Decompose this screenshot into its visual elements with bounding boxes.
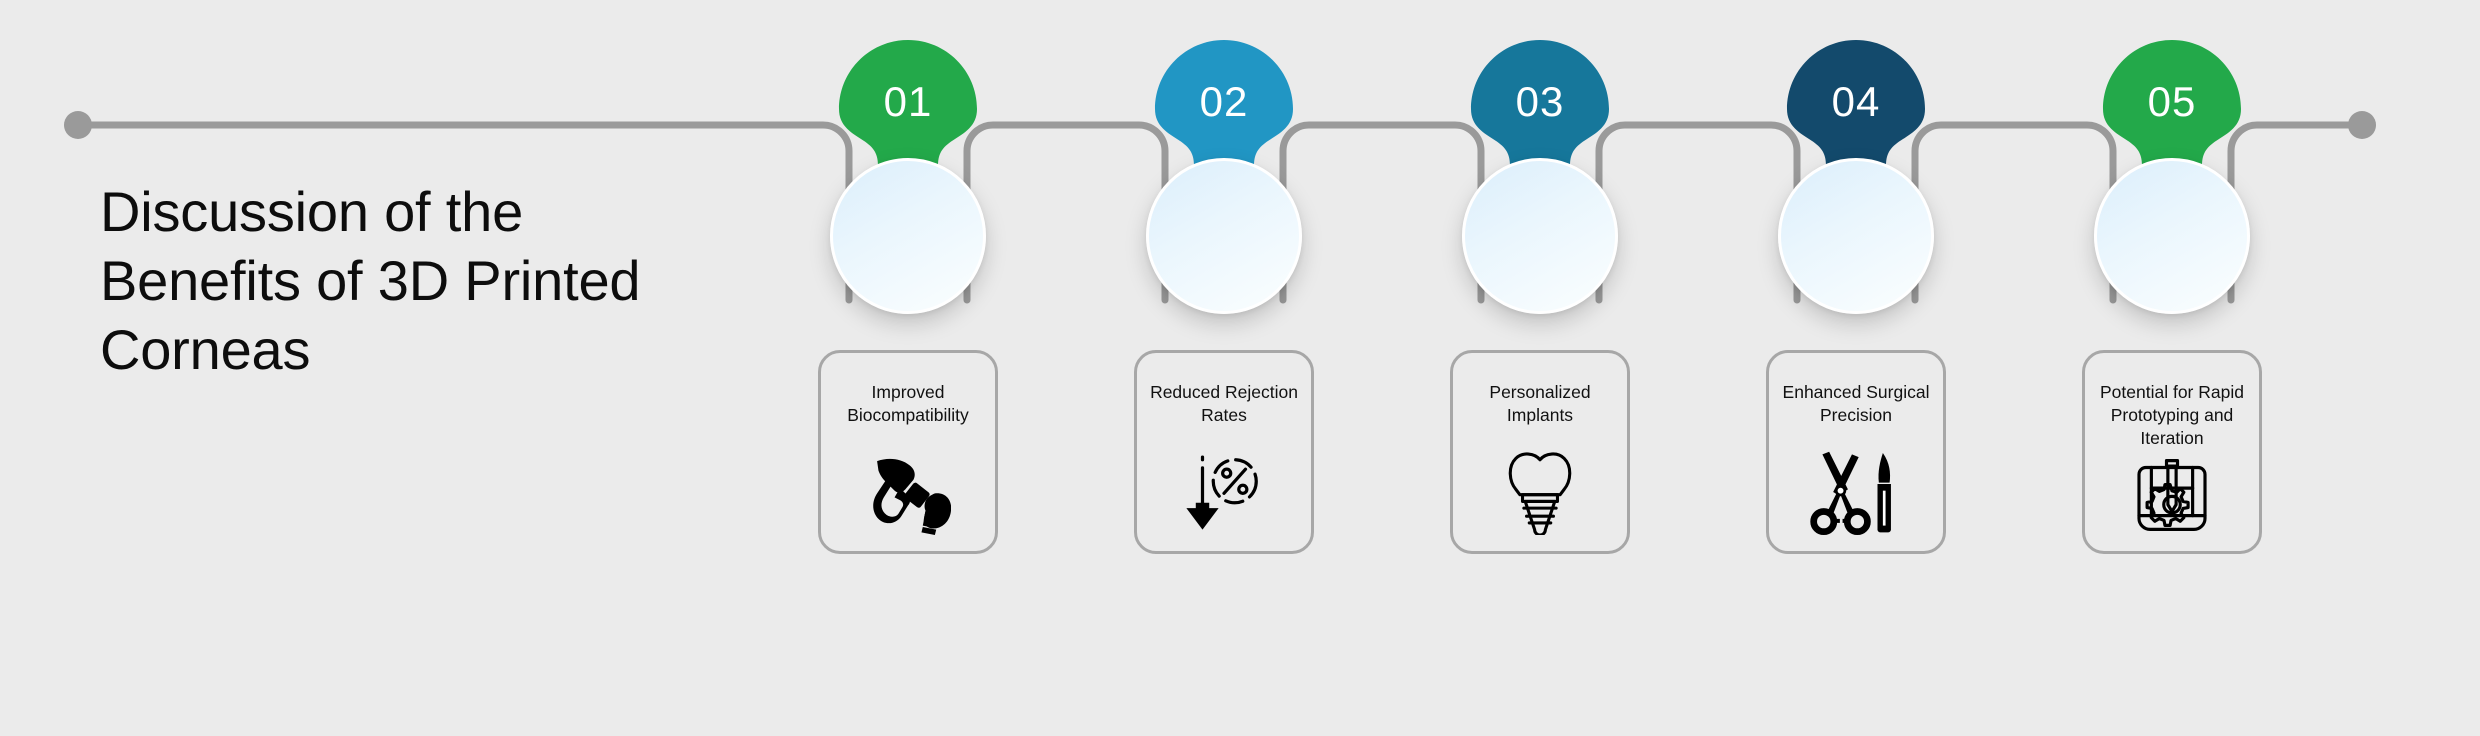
timeline-end-dot bbox=[2348, 111, 2376, 139]
step-2-title: Reduced Rejection Rates bbox=[1140, 381, 1308, 427]
step-3[interactable]: 03 Personalized Implants bbox=[1382, 0, 1698, 736]
3d-printer-gear-icon bbox=[2128, 455, 2216, 535]
infographic-canvas: Discussion of the Benefits of 3D Printed… bbox=[0, 0, 2480, 736]
step-3-title: Personalized Implants bbox=[1456, 381, 1624, 427]
step-3-card[interactable]: Personalized Implants bbox=[1450, 350, 1630, 554]
dental-implant-icon bbox=[1500, 449, 1580, 535]
timeline-start-dot bbox=[64, 111, 92, 139]
step-1-title: Improved Biocompatibility bbox=[824, 381, 992, 427]
step-1-number: 01 bbox=[839, 78, 977, 126]
step-2-number: 02 bbox=[1155, 78, 1293, 126]
step-2-bubble bbox=[1146, 158, 1302, 314]
step-1[interactable]: 01 Improved Biocompatibility bbox=[750, 0, 1066, 736]
step-5-number: 05 bbox=[2103, 78, 2241, 126]
percent-down-arrow-icon bbox=[1181, 449, 1267, 535]
step-1-bubble bbox=[830, 158, 986, 314]
step-4-number: 04 bbox=[1787, 78, 1925, 126]
step-2[interactable]: 02 Reduced Rejection Rates bbox=[1066, 0, 1382, 736]
hip-implant-icon bbox=[865, 449, 951, 535]
step-2-card[interactable]: Reduced Rejection Rates bbox=[1134, 350, 1314, 554]
step-5-card[interactable]: Potential for Rapid Prototyping and Iter… bbox=[2082, 350, 2262, 554]
step-4-card[interactable]: Enhanced Surgical Precision bbox=[1766, 350, 1946, 554]
scissors-scalpel-icon bbox=[1808, 449, 1904, 535]
step-3-bubble bbox=[1462, 158, 1618, 314]
step-5-bubble bbox=[2094, 158, 2250, 314]
step-3-number: 03 bbox=[1471, 78, 1609, 126]
step-5-title: Potential for Rapid Prototyping and Iter… bbox=[2088, 381, 2256, 449]
step-1-card[interactable]: Improved Biocompatibility bbox=[818, 350, 998, 554]
step-4-title: Enhanced Surgical Precision bbox=[1772, 381, 1940, 427]
step-4[interactable]: 04 Enhanced Surgical Precision bbox=[1698, 0, 2014, 736]
step-5[interactable]: 05 Potential for Rapid Prototyping and I… bbox=[2014, 0, 2330, 736]
step-4-bubble bbox=[1778, 158, 1934, 314]
page-title: Discussion of the Benefits of 3D Printed… bbox=[100, 178, 740, 385]
